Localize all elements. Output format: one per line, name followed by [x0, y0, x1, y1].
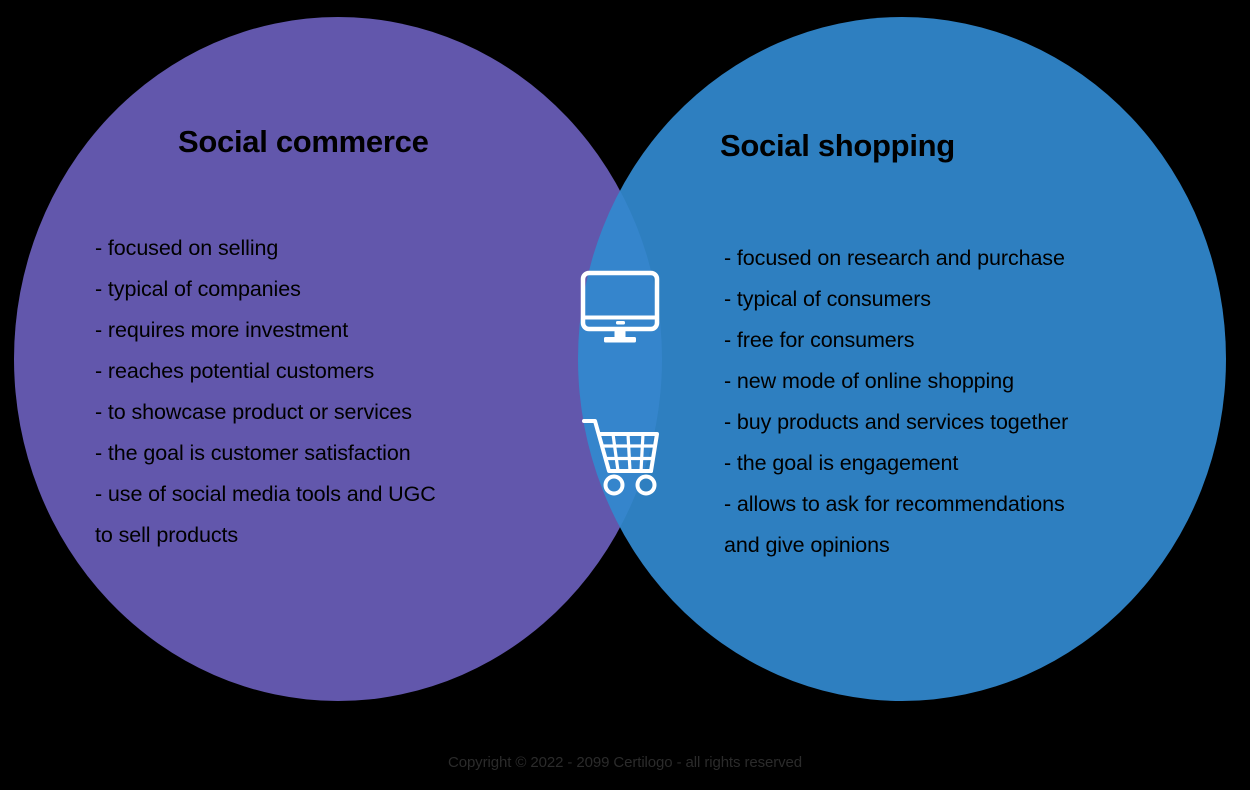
- monitor-icon: [578, 269, 662, 347]
- list-item: - the goal is engagement: [724, 443, 1204, 484]
- list-item: - new mode of online shopping: [724, 361, 1204, 402]
- left-circle-list: - focused on selling - typical of compan…: [95, 228, 565, 556]
- list-item: - buy products and services together: [724, 402, 1204, 443]
- shopping-cart-icon: [578, 413, 662, 497]
- list-item: - focused on research and purchase: [724, 238, 1204, 279]
- list-item: - typical of companies: [95, 269, 565, 310]
- list-item: - the goal is customer satisfaction: [95, 433, 565, 474]
- list-item: - typical of consumers: [724, 279, 1204, 320]
- list-item-continuation: to sell products: [95, 515, 565, 556]
- list-item: - allows to ask for recommendations: [724, 484, 1204, 525]
- list-item: - reaches potential customers: [95, 351, 565, 392]
- right-circle-list: - focused on research and purchase - typ…: [724, 238, 1204, 566]
- list-item-continuation: and give opinions: [724, 525, 1204, 566]
- list-item: - requires more investment: [95, 310, 565, 351]
- right-circle-title: Social shopping: [720, 128, 955, 164]
- left-circle-title: Social commerce: [178, 124, 429, 160]
- footer-copyright: Copyright © 2022 - 2099 Certilogo - all …: [0, 754, 1250, 771]
- list-item: - use of social media tools and UGC: [95, 474, 565, 515]
- venn-diagram: Social commerce Social shopping - focuse…: [0, 0, 1250, 790]
- list-item: - free for consumers: [724, 320, 1204, 361]
- list-item: - focused on selling: [95, 228, 565, 269]
- list-item: - to showcase product or services: [95, 392, 565, 433]
